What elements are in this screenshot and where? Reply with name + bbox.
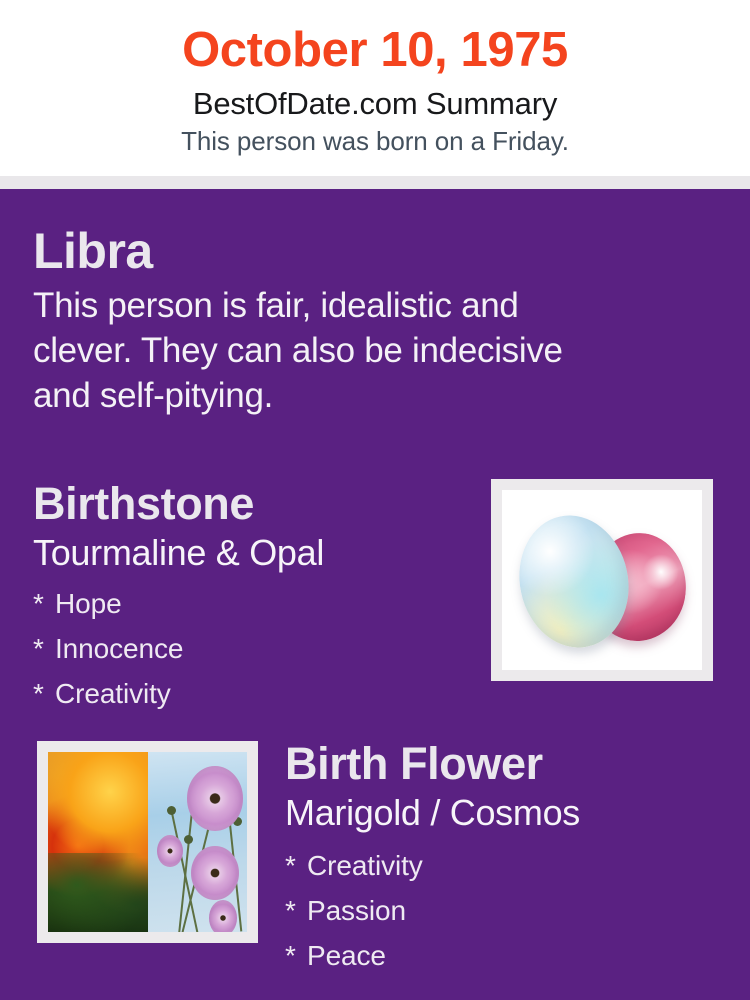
trait-label: Innocence (55, 633, 183, 664)
birth-flower-heading: Birth Flower (285, 737, 725, 791)
birth-flower-image-inner (48, 752, 247, 932)
card-header: October 10, 1975 BestOfDate.com Summary … (0, 0, 750, 176)
page-title: October 10, 1975 (0, 0, 750, 80)
cosmos-photo-half (148, 752, 248, 932)
birth-flower-name: Marigold / Cosmos (285, 791, 725, 835)
list-item: *Passion (285, 888, 725, 933)
birth-flower-trait-list: *Creativity *Passion *Peace (285, 835, 725, 978)
birth-flower-image (37, 741, 258, 943)
cosmos-bloom-icon (209, 900, 237, 932)
cosmos-bud-icon (184, 835, 193, 844)
list-item: *Creativity (33, 671, 473, 716)
bullet-star-icon: * (33, 626, 55, 671)
bullet-star-icon: * (285, 843, 307, 888)
bullet-star-icon: * (285, 888, 307, 933)
trait-label: Creativity (55, 678, 171, 709)
trait-label: Creativity (307, 850, 423, 881)
site-subtitle: BestOfDate.com Summary (0, 80, 750, 123)
list-item: *Peace (285, 933, 725, 978)
birth-day-note: This person was born on a Friday. (0, 123, 750, 157)
trait-label: Peace (307, 940, 386, 971)
birthstone-section: Birthstone Tourmaline & Opal *Hope *Inno… (33, 477, 473, 716)
birthstone-image (491, 479, 713, 681)
cosmos-bloom-icon (187, 766, 243, 831)
summary-card: October 10, 1975 BestOfDate.com Summary … (0, 0, 750, 1000)
cosmos-bud-icon (167, 806, 176, 815)
zodiac-description: This person is fair, idealistic and clev… (33, 280, 613, 418)
bullet-star-icon: * (33, 671, 55, 716)
bullet-star-icon: * (285, 933, 307, 978)
marigold-photo-half (48, 752, 148, 932)
header-divider (0, 176, 750, 189)
trait-label: Passion (307, 895, 406, 926)
list-item: *Hope (33, 581, 473, 626)
birthstone-heading: Birthstone (33, 477, 473, 531)
cosmos-bloom-icon (191, 846, 239, 900)
trait-label: Hope (55, 588, 122, 619)
zodiac-section: Libra This person is fair, idealistic an… (33, 222, 643, 418)
bullet-star-icon: * (33, 581, 55, 626)
birthstone-image-inner (502, 490, 702, 670)
birthstone-trait-list: *Hope *Innocence *Creativity (33, 575, 473, 716)
cosmos-bloom-icon (157, 835, 183, 867)
zodiac-sign-name: Libra (33, 222, 643, 280)
birthstone-name: Tourmaline & Opal (33, 531, 473, 575)
list-item: *Creativity (285, 843, 725, 888)
birth-flower-section: Birth Flower Marigold / Cosmos *Creativi… (285, 737, 725, 978)
list-item: *Innocence (33, 626, 473, 671)
